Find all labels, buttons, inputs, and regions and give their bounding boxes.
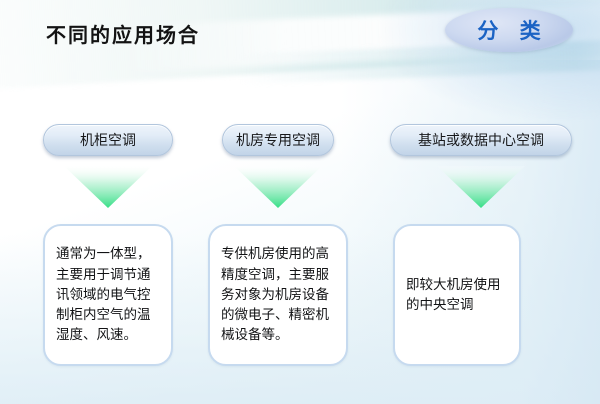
down-arrow-icon — [64, 166, 152, 213]
down-arrow-icon — [234, 166, 322, 213]
category-pill-1[interactable]: 机房专用空调 — [222, 124, 334, 156]
arrow-container-1 — [222, 166, 334, 213]
category-note-text-0: 通常为一体型，主要用于调节通讯领域的电气控制柜内空气的温湿度、风速。 — [56, 244, 160, 345]
category-pill-2[interactable]: 基站或数据中心空调 — [390, 124, 572, 156]
category-pill-label-1: 机房专用空调 — [236, 130, 320, 150]
slide-canvas: 不同的应用场合 分 类 机柜空调 — [0, 0, 600, 404]
category-note-2: 即较大机房使用的中央空调 — [393, 224, 521, 366]
down-arrow-icon — [437, 166, 525, 213]
category-column-1: 机房专用空调 专供机房使用的高精度空调，主要服务对象为机房设备的微电子、精密 — [222, 124, 334, 366]
category-note-text-2: 即较大机房使用的中央空调 — [406, 275, 508, 316]
page-title: 不同的应用场合 — [46, 19, 200, 48]
category-note-0: 通常为一体型，主要用于调节通讯领域的电气控制柜内空气的温湿度、风速。 — [43, 224, 173, 366]
arrow-container-0 — [43, 166, 173, 213]
category-column-2: 基站或数据中心空调 即较大机房使用的中央空调 — [390, 124, 572, 366]
section-badge-label: 分 类 — [470, 15, 547, 45]
arrow-container-2 — [390, 166, 572, 213]
category-note-1: 专供机房使用的高精度空调，主要服务对象为机房设备的微电子、精密机械设备等。 — [208, 224, 348, 366]
category-pill-0[interactable]: 机柜空调 — [43, 124, 173, 156]
category-column-0: 机柜空调 通常为一体型，主要用于调节通讯领域的电气控制柜内空气的温湿度、风速 — [43, 124, 173, 366]
section-badge: 分 类 — [445, 8, 573, 52]
category-pill-label-0: 机柜空调 — [80, 130, 136, 150]
category-pill-label-2: 基站或数据中心空调 — [418, 130, 544, 150]
category-note-text-1: 专供机房使用的高精度空调，主要服务对象为机房设备的微电子、精密机械设备等。 — [221, 244, 335, 345]
